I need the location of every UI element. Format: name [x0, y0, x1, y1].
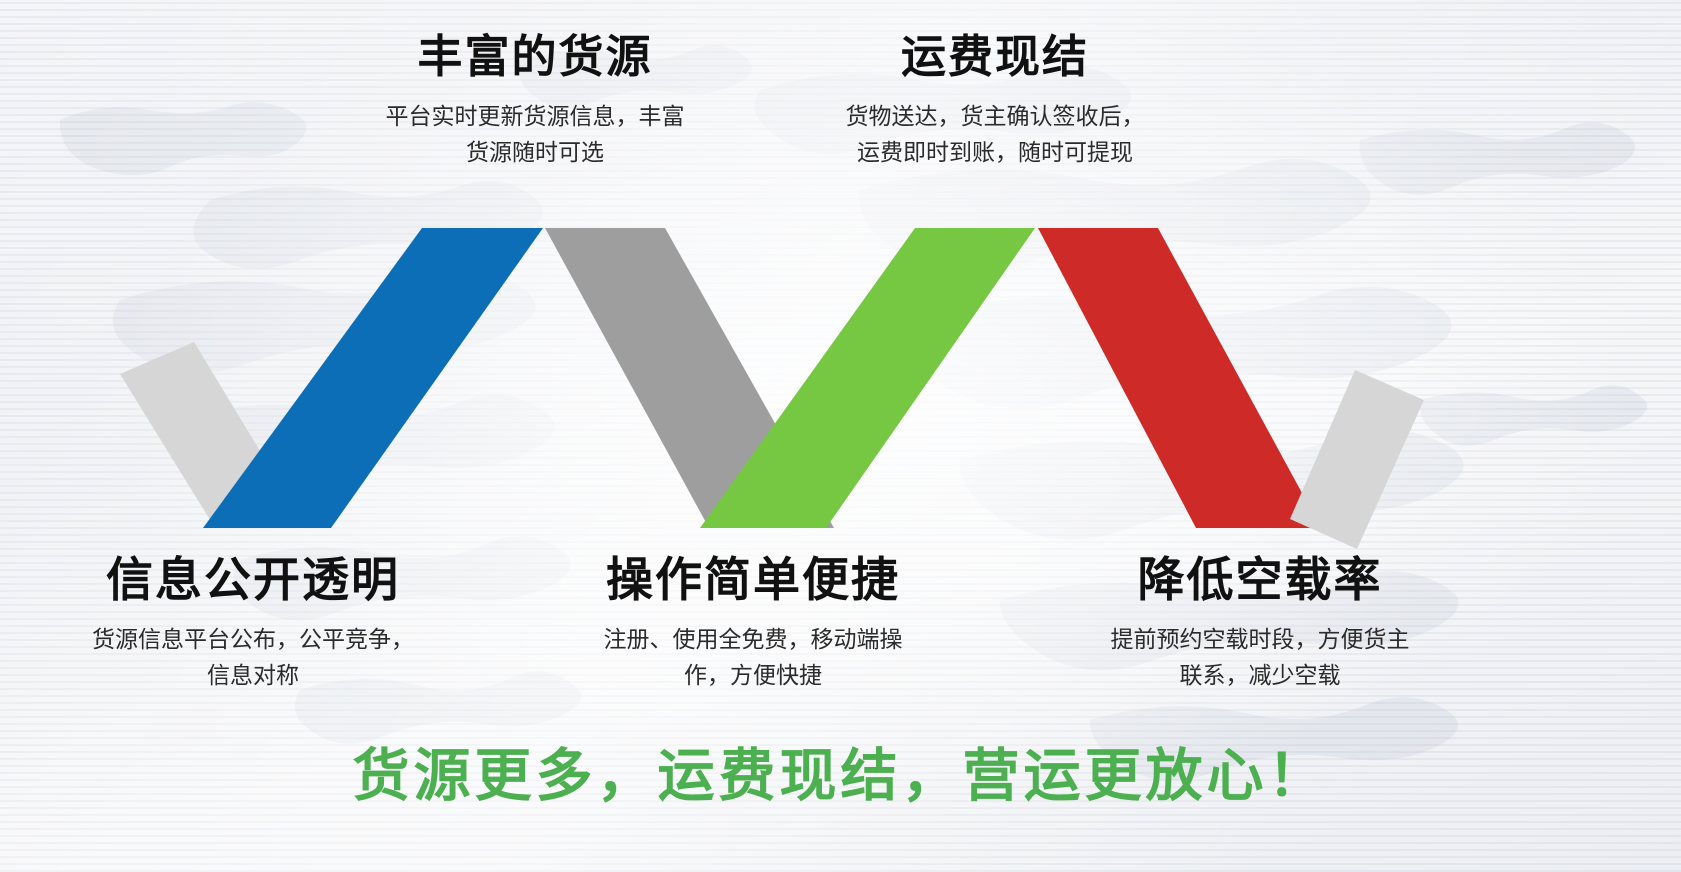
- segment-grey-right-stub: [1290, 370, 1424, 549]
- top-block-1-desc-line-2: 货源随时可选: [310, 135, 760, 171]
- segment-green-rise: [700, 228, 1035, 528]
- bottom-block-1-title: 信息公开透明: [28, 557, 478, 606]
- top-block-1-desc-line-1: 平台实时更新货源信息，丰富: [310, 99, 760, 135]
- bottom-block-2-title: 操作简单便捷: [528, 557, 978, 606]
- top-block-2-title: 运费现结: [765, 34, 1225, 81]
- bottom-block-3-title: 降低空载率: [1035, 557, 1485, 606]
- top-block-1-title: 丰富的货源: [310, 34, 760, 81]
- bottom-block-3-desc-line-1: 提前预约空载时段，方便货主: [1035, 622, 1485, 658]
- top-block-1: 丰富的货源 平台实时更新货源信息，丰富 货源随时可选: [310, 34, 760, 171]
- segment-grey-fall: [545, 228, 834, 528]
- top-block-2-desc-line-1: 货物送达，货主确认签收后，: [765, 99, 1225, 135]
- top-block-1-description: 平台实时更新货源信息，丰富 货源随时可选: [310, 99, 760, 170]
- bottom-block-1-description: 货源信息平台公布，公平竞争， 信息对称: [28, 622, 478, 693]
- bottom-block-2-description: 注册、使用全免费，移动端操 作，方便快捷: [528, 622, 978, 693]
- segment-red-fall: [1038, 228, 1321, 528]
- slogan-text: 货源更多，运费现结，营运更放心！: [0, 730, 1681, 812]
- bottom-block-2-desc-line-1: 注册、使用全免费，移动端操: [528, 622, 978, 658]
- bottom-block-3-description: 提前预约空载时段，方便货主 联系，减少空载: [1035, 622, 1485, 693]
- infographic-canvas: 丰富的货源 平台实时更新货源信息，丰富 货源随时可选 运费现结 货物送达，货主确…: [0, 0, 1681, 872]
- top-block-2-desc-line-2: 运费即时到账，随时可提现: [765, 135, 1225, 171]
- bottom-block-2-desc-line-2: 作，方便快捷: [528, 658, 978, 694]
- top-block-2-description: 货物送达，货主确认签收后， 运费即时到账，随时可提现: [765, 99, 1225, 170]
- bottom-block-3: 降低空载率 提前预约空载时段，方便货主 联系，减少空载: [1035, 557, 1485, 694]
- top-block-2: 运费现结 货物送达，货主确认签收后， 运费即时到账，随时可提现: [765, 34, 1225, 171]
- segment-blue-rise: [203, 228, 543, 528]
- bottom-block-3-desc-line-2: 联系，减少空载: [1035, 658, 1485, 694]
- bottom-block-1-desc-line-2: 信息对称: [28, 658, 478, 694]
- bottom-block-2: 操作简单便捷 注册、使用全免费，移动端操 作，方便快捷: [528, 557, 978, 694]
- bottom-block-1: 信息公开透明 货源信息平台公布，公平竞争， 信息对称: [28, 557, 478, 694]
- bottom-block-1-desc-line-1: 货源信息平台公布，公平竞争，: [28, 622, 478, 658]
- segment-grey-left-stub: [120, 342, 288, 528]
